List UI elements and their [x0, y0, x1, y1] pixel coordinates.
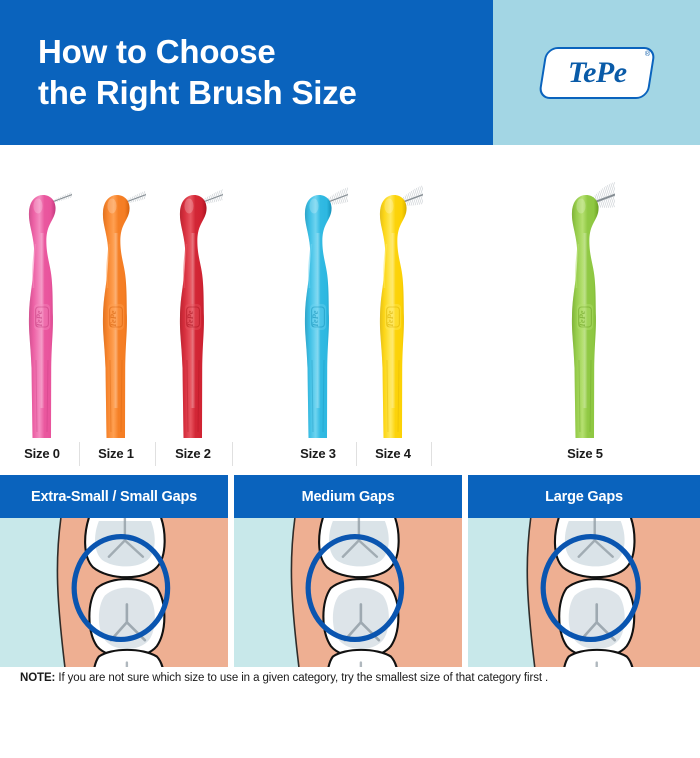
- brush-lineup: TePe: [0, 145, 700, 438]
- size-label: Size 0: [2, 446, 82, 461]
- svg-text:TePe: TePe: [185, 310, 195, 327]
- brush-bristles: [327, 182, 348, 205]
- size-divider: [431, 442, 432, 466]
- gap-category-panels: Extra-Small / Small Gaps Medium Gaps: [0, 475, 700, 667]
- tooth-diagram: [0, 518, 228, 667]
- brush-logo-emboss: TePe: [577, 304, 593, 330]
- brush-bristles: [125, 183, 146, 203]
- tepe-logo-text: TePe: [567, 56, 626, 90]
- svg-text:TePe: TePe: [385, 310, 395, 327]
- gap-category-title: Large Gaps: [468, 475, 700, 518]
- interdental-brush: TePe: [163, 145, 223, 438]
- size-divider: [155, 442, 156, 466]
- brush-bristles: [52, 184, 72, 203]
- page-title-line-1: How to Choose: [38, 32, 357, 72]
- note-prefix: NOTE:: [20, 672, 55, 684]
- header-banner: How to Choose the Right Brush Size TePe …: [0, 0, 700, 145]
- registered-trademark-icon: ®: [644, 51, 649, 58]
- size-label: Size 1: [76, 446, 156, 461]
- size-label: Size 5: [545, 446, 625, 461]
- lower-tooth: [559, 579, 634, 657]
- size-label: Size 3: [278, 446, 358, 461]
- svg-text:TePe: TePe: [108, 310, 118, 327]
- svg-text:TePe: TePe: [577, 310, 587, 327]
- page-title-line-2: the Right Brush Size: [38, 73, 357, 113]
- size-divider: [356, 442, 357, 466]
- tooth-illustration: [234, 518, 462, 667]
- lower-tooth: [89, 579, 164, 657]
- note-text: NOTE: If you are not sure which size to …: [20, 672, 690, 684]
- lower-tooth: [323, 579, 398, 657]
- header-logo-block: TePe ®: [493, 0, 700, 145]
- interdental-brush: TePe: [288, 145, 348, 438]
- brush-logo-emboss: TePe: [108, 304, 124, 330]
- tooth-illustration: [0, 518, 228, 667]
- interdental-brush: TePe: [555, 145, 615, 438]
- interdental-brush: TePe: [363, 145, 423, 438]
- brush-logo-emboss: TePe: [385, 304, 401, 330]
- size-divider: [232, 442, 233, 466]
- brush-logo-emboss: TePe: [310, 304, 326, 330]
- size-label-row: Size 0Size 1Size 2Size 3Size 4Size 5: [0, 438, 700, 472]
- tooth-illustration: [468, 518, 700, 667]
- interdental-brush: TePe: [12, 145, 72, 438]
- tooth-diagram: [468, 518, 700, 667]
- gap-category-title: Medium Gaps: [234, 475, 462, 518]
- tooth-diagram: [234, 518, 462, 667]
- svg-text:TePe: TePe: [34, 310, 44, 327]
- brush-bristles: [202, 183, 223, 204]
- note-body: If you are not sure which size to use in…: [55, 672, 548, 684]
- header-title-block: How to Choose the Right Brush Size: [0, 0, 493, 145]
- size-label: Size 2: [153, 446, 233, 461]
- gap-category-panel: Large Gaps: [468, 475, 700, 667]
- size-divider: [79, 442, 80, 466]
- brush-logo-emboss: TePe: [185, 304, 201, 330]
- gap-category-panel: Medium Gaps: [234, 475, 462, 667]
- page-title: How to Choose the Right Brush Size: [38, 32, 357, 113]
- brush-logo-emboss: TePe: [34, 304, 50, 330]
- tepe-logo: TePe ®: [537, 47, 655, 99]
- gap-category-panel: Extra-Small / Small Gaps: [0, 475, 228, 667]
- interdental-brush: TePe: [86, 145, 146, 438]
- size-label: Size 4: [353, 446, 433, 461]
- gap-category-title: Extra-Small / Small Gaps: [0, 475, 228, 518]
- svg-text:TePe: TePe: [310, 310, 320, 327]
